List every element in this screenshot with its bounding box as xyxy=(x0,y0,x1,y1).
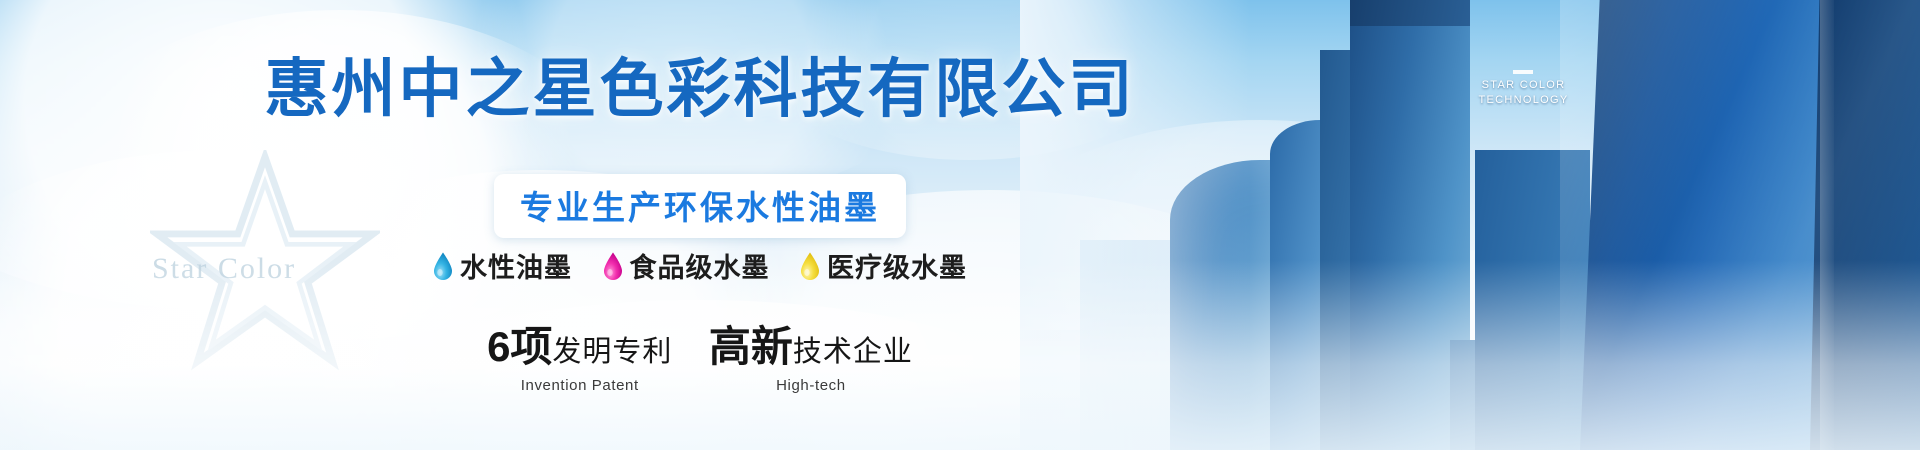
banner-content: 惠州中之星色彩科技有限公司 专业生产环保水性油墨 xyxy=(0,0,1400,450)
badge-highlight: 6项 xyxy=(487,323,552,370)
building-sign: STAR COLOR TECHNOLOGY xyxy=(1471,78,1576,108)
company-hero-banner: Star Color STAR COLOR TECHNOLOGY 惠州中之星色彩… xyxy=(0,0,1920,450)
building-sign-bar xyxy=(1513,70,1533,74)
status-badge: 高新技术企业 High-tech xyxy=(709,326,913,394)
list-item: 水性油墨 xyxy=(433,246,572,285)
subtitle-pill: 专业生产环保水性油墨 xyxy=(494,174,906,238)
feature-list: 水性油墨 xyxy=(0,246,1400,285)
badge-english-label: Invention Patent xyxy=(487,377,672,394)
list-item-label: 医疗级水墨 xyxy=(827,246,967,285)
list-item-label: 水性油墨 xyxy=(460,246,572,285)
badge-text: 高新技术企业 xyxy=(709,348,913,365)
building-sign-line1: STAR COLOR xyxy=(1471,78,1576,93)
water-drop-cyan-icon xyxy=(433,252,453,280)
badge-highlight: 高新 xyxy=(709,323,793,370)
credential-badges: 6项发明专利 Invention Patent 高新技术企业 High-tech xyxy=(0,326,1400,394)
water-drop-yellow-icon xyxy=(800,252,820,280)
list-item-label: 食品级水墨 xyxy=(630,246,770,285)
list-item: 食品级水墨 xyxy=(603,246,770,285)
badge-english-label: High-tech xyxy=(709,377,913,394)
badge-text: 6项发明专利 xyxy=(487,348,672,365)
subtitle-pill-wrapper: 专业生产环保水性油墨 xyxy=(0,174,1400,238)
water-drop-magenta-icon xyxy=(603,252,623,280)
badge-label: 技术企业 xyxy=(793,336,913,368)
list-item: 医疗级水墨 xyxy=(800,246,967,285)
page-title: 惠州中之星色彩科技有限公司 xyxy=(0,56,1400,123)
status-badge: 6项发明专利 Invention Patent xyxy=(487,326,672,394)
building-sign-line2: TECHNOLOGY xyxy=(1471,93,1576,108)
badge-label: 发明专利 xyxy=(552,336,672,368)
